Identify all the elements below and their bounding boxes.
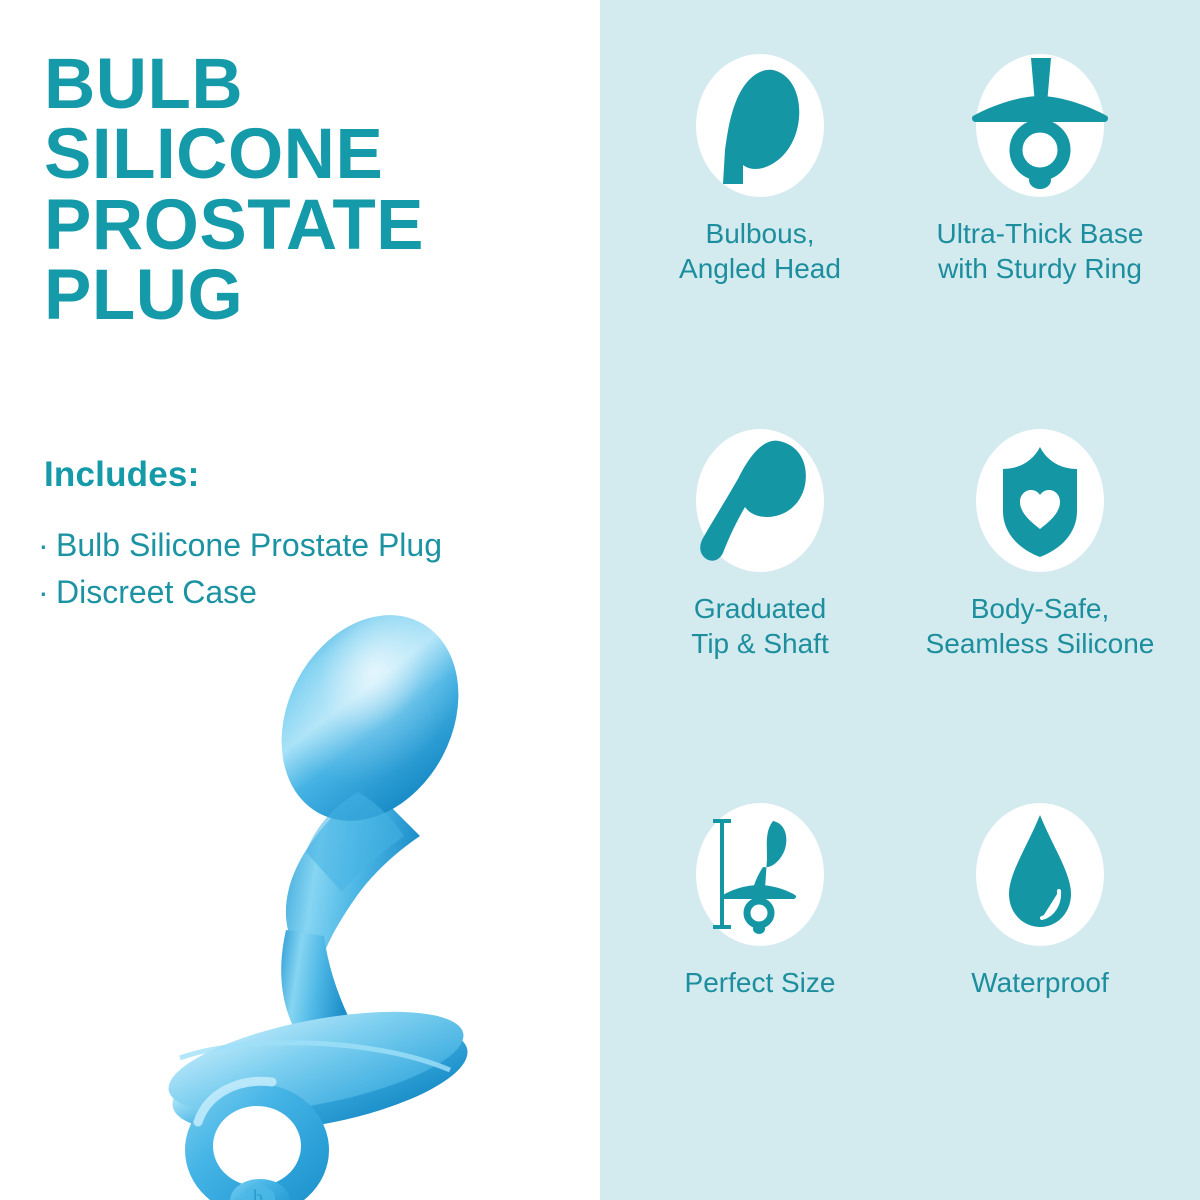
graduated-tip-shaft-icon: [685, 425, 835, 575]
feature-label: Ultra-Thick Base with Sturdy Ring: [937, 216, 1144, 286]
feature-icon-container: [685, 425, 835, 575]
feature-label: Bulbous, Angled Head: [679, 216, 841, 286]
water-droplet-icon: [965, 799, 1115, 949]
feature-label: Body-Safe, Seamless Silicone: [926, 591, 1155, 661]
feature-icon-container: [965, 425, 1115, 575]
feature-icon-container: [685, 799, 835, 949]
measuring-ruler-plug-icon: [685, 799, 835, 949]
feature-icon-container: [685, 50, 835, 200]
feature-item-graduated-tip-shaft: Graduated Tip & Shaft: [620, 411, 900, 786]
feature-item-ultra-thick-base: Ultra-Thick Base with Sturdy Ring: [900, 36, 1180, 411]
bulbous-angled-head-icon: [685, 50, 835, 200]
includes-heading: Includes:: [44, 455, 199, 495]
ultra-thick-base-ring-icon: [965, 50, 1115, 200]
bullet-marker: ·: [38, 569, 56, 616]
feature-icon-container: [965, 799, 1115, 949]
feature-label: Waterproof: [971, 965, 1108, 1000]
product-stem: [281, 930, 352, 1024]
feature-item-body-safe-silicone: Body-Safe, Seamless Silicone: [900, 411, 1180, 786]
infographic-page: BULB SILICONE PROSTATE PLUG Includes: ·B…: [0, 0, 1200, 1200]
list-item: ·Bulb Silicone Prostate Plug: [38, 522, 598, 569]
list-item-label: Bulb Silicone Prostate Plug: [56, 527, 442, 563]
feature-item-perfect-size: Perfect Size: [620, 785, 900, 1160]
feature-item-waterproof: Waterproof: [900, 785, 1180, 1160]
feature-label: Graduated Tip & Shaft: [691, 591, 828, 661]
page-title: BULB SILICONE PROSTATE PLUG: [44, 50, 584, 331]
feature-grid: Bulbous, Angled Head: [600, 0, 1200, 1200]
feature-label: Perfect Size: [685, 965, 836, 1000]
product-image: b: [120, 600, 520, 1200]
bullet-marker: ·: [38, 522, 56, 569]
shield-heart-icon: [965, 425, 1115, 575]
svg-text:b: b: [253, 1187, 263, 1200]
left-panel: BULB SILICONE PROSTATE PLUG Includes: ·B…: [0, 0, 600, 1200]
feature-icon-container: [965, 50, 1115, 200]
feature-item-bulbous-angled-head: Bulbous, Angled Head: [620, 36, 900, 411]
features-panel: Bulbous, Angled Head: [600, 0, 1200, 1200]
